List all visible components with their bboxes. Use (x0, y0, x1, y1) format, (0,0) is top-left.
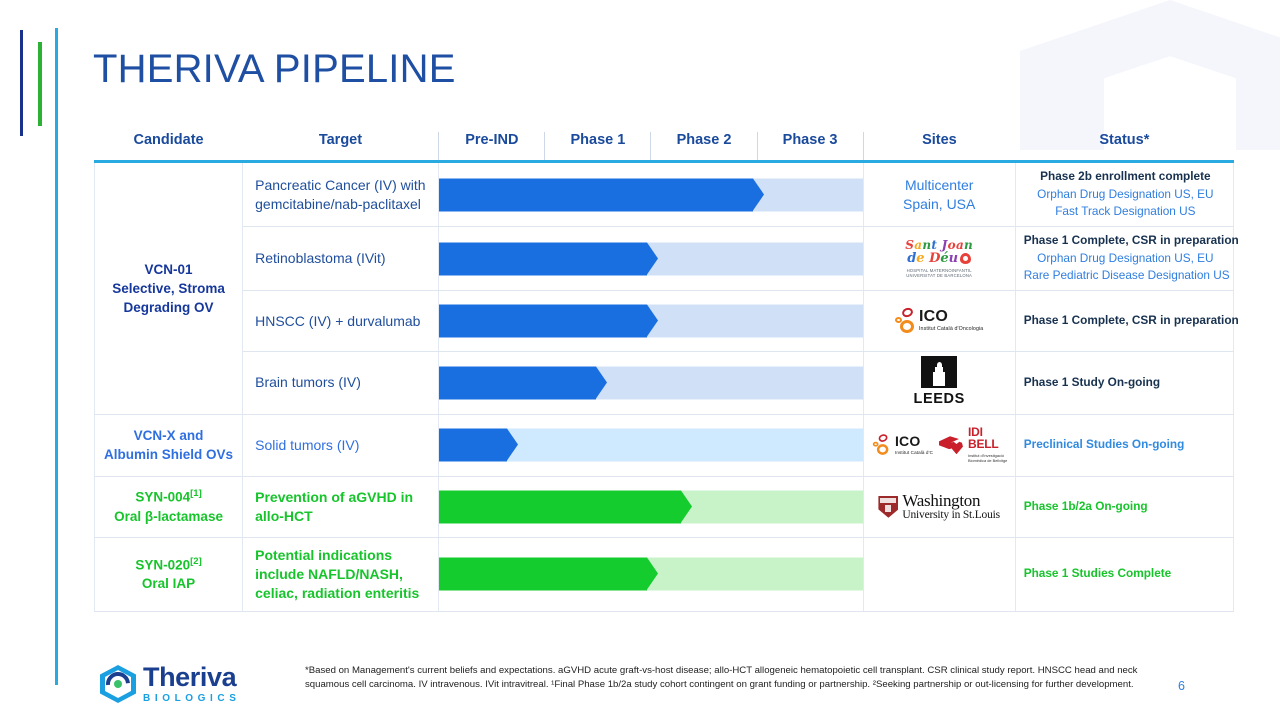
candidate-line: Oral β-lactamase (99, 507, 238, 526)
pipeline-table: Candidate Target Pre-IND Phase 1 Phase 2… (94, 132, 1234, 612)
footnote-marker: [1] (190, 488, 202, 499)
column-header-sites: Sites (863, 132, 1015, 162)
sites-cell: Sant Joan de Déu HOSPITAL MATERNOINFANTI… (863, 227, 1015, 291)
washu-line-2: University in St.Louis (902, 509, 1000, 522)
sites-cell: Multicenter Spain, USA (863, 162, 1015, 227)
accent-rule-blue (55, 28, 58, 685)
status-line: Preclinical Studies On-going (1024, 436, 1227, 454)
progress-bar-cell (439, 414, 863, 476)
bar-fill (439, 429, 507, 462)
ico-logo: ICO Institut Català d'Oncologia (870, 308, 1009, 334)
status-line: Fast Track Designation US (1024, 203, 1227, 221)
progress-bar-cell (439, 537, 863, 611)
target-cell: HNSCC (IV) + durvalumab (243, 291, 439, 352)
status-cell: Phase 1b/2a On-going (1015, 476, 1233, 537)
ico-tagline: Institut Català d'C (895, 450, 933, 456)
status-cell: Phase 1 Study On-going (1015, 352, 1233, 415)
ico-tagline: Institut Català d'Oncologia (919, 326, 983, 333)
leeds-name: LEEDS (914, 390, 965, 410)
sites-cell: Washington University in St.Louis (863, 476, 1015, 537)
candidate-line: SYN-020 (135, 557, 190, 572)
candidate-line: VCN-X and (99, 426, 238, 445)
sites-cell: LEEDS (863, 352, 1015, 415)
theriva-biologics-logo: Theriva BIOLOGICS (100, 664, 241, 704)
table-row: VCN-X and Albumin Shield OVs Solid tumor… (95, 414, 1234, 476)
washu-line-1: Washington (902, 492, 1000, 509)
status-cell: Phase 1 Complete, CSR in preparation Orp… (1015, 227, 1233, 291)
sites-line: Spain, USA (870, 195, 1009, 214)
sjd-caption-2: UNIVERSITAT DE BARCELONA (906, 273, 972, 278)
candidate-cell-syn-020: SYN-020[2] Oral IAP (95, 537, 243, 611)
candidate-line: Degrading OV (99, 298, 238, 317)
progress-bar-cell (439, 291, 863, 352)
status-line: Phase 1 Studies Complete (1024, 565, 1227, 583)
hexagon-watermark (1020, 0, 1280, 150)
progress-bar-cell (439, 352, 863, 415)
status-cell: Preclinical Studies On-going (1015, 414, 1233, 476)
status-line: Orphan Drug Designation US, EU (1024, 250, 1227, 268)
column-header-phase-3: Phase 3 (757, 132, 863, 162)
theriva-subtitle: BIOLOGICS (143, 694, 241, 704)
sites-cell: ICO Institut Català d'Oncologia (863, 291, 1015, 352)
status-line: Phase 1 Complete, CSR in preparation (1024, 232, 1227, 250)
column-header-phase-1: Phase 1 (545, 132, 651, 162)
footnote-marker: [2] (190, 556, 202, 567)
progress-bar-cell (439, 227, 863, 291)
accent-rule-navy (20, 30, 23, 136)
progress-bar-cell (439, 476, 863, 537)
target-cell: Brain tumors (IV) (243, 352, 439, 415)
target-cell: Prevention of aGVHD in allo-HCT (243, 476, 439, 537)
candidate-line: SYN-004 (135, 490, 190, 505)
status-cell: Phase 1 Complete, CSR in preparation (1015, 291, 1233, 352)
idibell-logo: IDI BELL Institut d'Investigació Biomèdi… (939, 427, 1007, 463)
candidate-cell-vcn-x: VCN-X and Albumin Shield OVs (95, 414, 243, 476)
column-header-phase-2: Phase 2 (651, 132, 757, 162)
candidate-line: Selective, Stroma (99, 279, 238, 298)
bar-fill (439, 305, 646, 338)
column-header-pre-ind: Pre-IND (439, 132, 545, 162)
theriva-hex-icon (100, 665, 136, 703)
bar-fill (439, 490, 680, 523)
target-cell: Retinoblastoma (IVit) (243, 227, 439, 291)
table-row: Brain tumors (IV) LEEDS Phase 1 Study (95, 352, 1234, 415)
candidate-line: Oral IAP (99, 574, 238, 593)
column-header-candidate: Candidate (95, 132, 243, 162)
progress-bar-cell (439, 162, 863, 227)
ico-logo: ICO Institut Català d'C (871, 432, 933, 458)
status-cell: Phase 2b enrollment complete Orphan Drug… (1015, 162, 1233, 227)
table-row: Retinoblastoma (IVit) Sant Joan (95, 227, 1234, 291)
bar-fill (439, 178, 752, 211)
candidate-line: Albumin Shield OVs (99, 445, 238, 464)
table-row: VCN-01 Selective, Stroma Degrading OV Pa… (95, 162, 1234, 227)
target-cell: Solid tumors (IV) (243, 414, 439, 476)
sites-cell: ICO Institut Català d'C IDI BELL Institu… (863, 414, 1015, 476)
candidate-cell-vcn-01: VCN-01 Selective, Stroma Degrading OV (95, 162, 243, 415)
sites-line: Multicenter (870, 176, 1009, 195)
status-line: Phase 1b/2a On-going (1024, 498, 1227, 516)
sant-joan-de-deu-logo: Sant Joan de Déu HOSPITAL MATERNOINFANTI… (905, 239, 973, 279)
bar-fill (439, 558, 646, 591)
idibell-caption-2: Biomèdica de Bellvitge (968, 458, 1007, 463)
status-line: Phase 1 Study On-going (1024, 374, 1227, 392)
page-number: 6 (1178, 679, 1185, 693)
table-row: SYN-020[2] Oral IAP Potential indication… (95, 537, 1234, 611)
column-header-target: Target (243, 132, 439, 162)
status-cell: Phase 1 Studies Complete (1015, 537, 1233, 611)
candidate-cell-syn-004: SYN-004[1] Oral β-lactamase (95, 476, 243, 537)
table-row: HNSCC (IV) + durvalumab ICO Institut Cat… (95, 291, 1234, 352)
idibell-line-2: BELL (968, 439, 1007, 451)
ico-name: ICO (895, 434, 933, 448)
bar-fill (439, 242, 646, 275)
status-line: Phase 2b enrollment complete (1024, 168, 1227, 186)
bar-fill (439, 366, 596, 399)
idibell-caption-1: Institut d'Investigació (968, 453, 1004, 458)
theriva-wordmark: Theriva (143, 664, 241, 691)
status-line: Orphan Drug Designation US, EU (1024, 186, 1227, 204)
target-cell: Pancreatic Cancer (IV) with gemcitabine/… (243, 162, 439, 227)
table-row: SYN-004[1] Oral β-lactamase Prevention o… (95, 476, 1234, 537)
column-header-status: Status* (1015, 132, 1233, 162)
sjd-caption-1: HOSPITAL MATERNOINFANTIL (907, 268, 972, 273)
status-line: Rare Pediatric Disease Designation US (1024, 267, 1227, 285)
page-title: THERIVA PIPELINE (93, 47, 456, 92)
slide-canvas: THERIVA PIPELINE Candidate Target Pre-IN… (0, 0, 1280, 720)
target-cell: Potential indications include NAFLD/NASH… (243, 537, 439, 611)
accent-rule-green (38, 42, 42, 126)
leeds-logo: LEEDS (914, 356, 965, 410)
candidate-line: VCN-01 (99, 260, 238, 279)
table-header-row: Candidate Target Pre-IND Phase 1 Phase 2… (95, 132, 1234, 162)
sites-cell (863, 537, 1015, 611)
footnote-text: *Based on Management's current beliefs a… (305, 664, 1140, 691)
status-line: Phase 1 Complete, CSR in preparation (1024, 312, 1227, 330)
ico-name: ICO (919, 309, 983, 325)
washington-university-logo: Washington University in St.Louis (870, 492, 1009, 522)
